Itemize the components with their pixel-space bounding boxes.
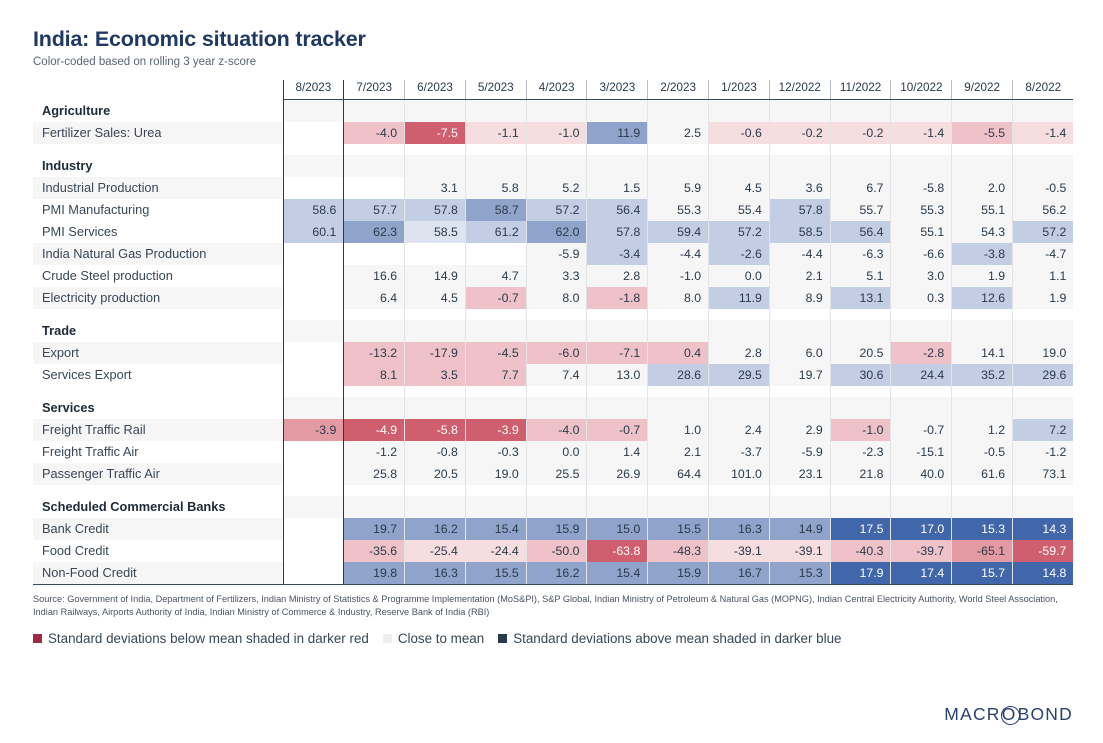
row-label: Freight Traffic Air xyxy=(33,441,283,463)
cell xyxy=(830,397,891,419)
cell xyxy=(587,309,648,320)
cell xyxy=(283,309,344,320)
cell: 7.4 xyxy=(526,364,587,386)
cell: 3.1 xyxy=(405,177,466,199)
cell: -0.5 xyxy=(952,441,1013,463)
table-row: Fertilizer Sales: Urea-4.0-7.5-1.1-1.011… xyxy=(33,122,1073,144)
cell xyxy=(283,485,344,496)
cell: 15.9 xyxy=(648,562,709,585)
cell xyxy=(952,386,1013,397)
column-header-8-2023: 8/2023 xyxy=(283,80,344,100)
cell: 28.6 xyxy=(648,364,709,386)
cell: -3.8 xyxy=(952,243,1013,265)
cell: 57.7 xyxy=(344,199,405,221)
cell xyxy=(405,144,466,155)
cell xyxy=(283,342,344,364)
cell: 60.1 xyxy=(283,221,344,243)
cell xyxy=(405,320,466,342)
table-row: Non-Food Credit19.816.315.516.215.415.91… xyxy=(33,562,1073,585)
cell xyxy=(283,518,344,540)
cell: 0.4 xyxy=(648,342,709,364)
cell: 24.4 xyxy=(891,364,952,386)
cell xyxy=(830,309,891,320)
logo-text-pre: MACR xyxy=(944,704,1000,725)
cell: -65.1 xyxy=(952,540,1013,562)
cell xyxy=(1013,496,1074,518)
cell: 2.1 xyxy=(769,265,830,287)
cell: 30.6 xyxy=(830,364,891,386)
cell: -1.0 xyxy=(648,265,709,287)
column-header-8-2022: 8/2022 xyxy=(1013,80,1074,100)
cell: 16.7 xyxy=(709,562,770,585)
cell: 1.2 xyxy=(952,419,1013,441)
cell: 59.4 xyxy=(648,221,709,243)
column-header-6-2023: 6/2023 xyxy=(405,80,466,100)
cell xyxy=(465,309,526,320)
cell xyxy=(465,397,526,419)
row-label: PMI Services xyxy=(33,221,283,243)
cell xyxy=(891,320,952,342)
cell: 12.6 xyxy=(952,287,1013,309)
macrobond-logo: MACROBOND xyxy=(944,704,1073,725)
cell xyxy=(648,320,709,342)
cell xyxy=(709,386,770,397)
cell: -0.7 xyxy=(587,419,648,441)
cell: -0.7 xyxy=(465,287,526,309)
row-label: Services Export xyxy=(33,364,283,386)
cell xyxy=(830,155,891,177)
cell xyxy=(891,99,952,122)
cell xyxy=(709,485,770,496)
cell: -5.9 xyxy=(526,243,587,265)
cell xyxy=(465,144,526,155)
cell: 6.4 xyxy=(344,287,405,309)
cell: -0.7 xyxy=(891,419,952,441)
cell: 3.6 xyxy=(769,177,830,199)
cell xyxy=(587,99,648,122)
cell: 13.0 xyxy=(587,364,648,386)
table-row: PMI Manufacturing58.657.757.858.757.256.… xyxy=(33,199,1073,221)
cell: -3.4 xyxy=(587,243,648,265)
section-header-row: Industry xyxy=(33,155,1073,177)
cell: -25.4 xyxy=(405,540,466,562)
row-label: Electricity production xyxy=(33,287,283,309)
cell xyxy=(283,397,344,419)
cell: 57.2 xyxy=(526,199,587,221)
cell: -2.8 xyxy=(891,342,952,364)
cell xyxy=(891,309,952,320)
cell xyxy=(709,155,770,177)
cell: 17.9 xyxy=(830,562,891,585)
cell: 15.4 xyxy=(465,518,526,540)
table-header: 8/20237/20236/20235/20234/20233/20232/20… xyxy=(33,80,1073,100)
cell: 16.3 xyxy=(709,518,770,540)
section-label: Trade xyxy=(33,320,283,342)
legend-label: Standard deviations above mean shaded in… xyxy=(513,631,841,646)
cell: -0.5 xyxy=(1013,177,1074,199)
cell: 55.1 xyxy=(891,221,952,243)
cell: 6.7 xyxy=(830,177,891,199)
cell: -6.3 xyxy=(830,243,891,265)
cell xyxy=(283,155,344,177)
cell: -5.8 xyxy=(405,419,466,441)
cell: 16.6 xyxy=(344,265,405,287)
cell: 1.0 xyxy=(648,419,709,441)
cell: -17.9 xyxy=(405,342,466,364)
cell xyxy=(526,320,587,342)
cell: 17.5 xyxy=(830,518,891,540)
cell: -48.3 xyxy=(648,540,709,562)
spacer-row xyxy=(33,144,1073,155)
cell xyxy=(891,155,952,177)
cell xyxy=(283,540,344,562)
cell: -4.4 xyxy=(648,243,709,265)
cell: 3.3 xyxy=(526,265,587,287)
row-label: Bank Credit xyxy=(33,518,283,540)
legend-item: Close to mean xyxy=(383,631,484,646)
cell: -4.9 xyxy=(344,419,405,441)
cell: -1.4 xyxy=(891,122,952,144)
cell xyxy=(709,309,770,320)
cell: 19.0 xyxy=(465,463,526,485)
table-row: Freight Traffic Air-1.2-0.8-0.30.01.42.1… xyxy=(33,441,1073,463)
cell: -1.0 xyxy=(526,122,587,144)
cell xyxy=(405,155,466,177)
cell: -39.1 xyxy=(769,540,830,562)
cell xyxy=(283,243,344,265)
table-row: Services Export8.13.57.77.413.028.629.51… xyxy=(33,364,1073,386)
cell: 2.4 xyxy=(709,419,770,441)
cell: -6.0 xyxy=(526,342,587,364)
cell xyxy=(587,386,648,397)
cell: 6.0 xyxy=(769,342,830,364)
cell xyxy=(769,144,830,155)
page-subtitle: Color-coded based on rolling 3 year z-sc… xyxy=(33,55,1073,70)
cell xyxy=(344,320,405,342)
row-label: Industrial Production xyxy=(33,177,283,199)
table-row: India Natural Gas Production-5.9-3.4-4.4… xyxy=(33,243,1073,265)
cell xyxy=(769,485,830,496)
cell: 1.5 xyxy=(587,177,648,199)
row-label xyxy=(33,144,283,155)
cell: -6.6 xyxy=(891,243,952,265)
cell: 14.8 xyxy=(1013,562,1074,585)
cell: 16.3 xyxy=(405,562,466,585)
cell xyxy=(587,496,648,518)
cell: 19.7 xyxy=(769,364,830,386)
legend-item: Standard deviations above mean shaded in… xyxy=(498,631,841,646)
cell: 101.0 xyxy=(709,463,770,485)
row-label: Export xyxy=(33,342,283,364)
column-header-label xyxy=(33,80,283,100)
cell xyxy=(526,309,587,320)
cell xyxy=(1013,155,1074,177)
row-label: PMI Manufacturing xyxy=(33,199,283,221)
cell xyxy=(405,99,466,122)
section-header-row: Agriculture xyxy=(33,99,1073,122)
cell xyxy=(283,320,344,342)
cell: 20.5 xyxy=(405,463,466,485)
cell: -39.7 xyxy=(891,540,952,562)
row-label: India Natural Gas Production xyxy=(33,243,283,265)
cell xyxy=(952,320,1013,342)
cell: -15.1 xyxy=(891,441,952,463)
cell: 17.0 xyxy=(891,518,952,540)
cell xyxy=(1013,99,1074,122)
cell xyxy=(587,485,648,496)
cell xyxy=(283,364,344,386)
cell xyxy=(648,309,709,320)
cell xyxy=(952,144,1013,155)
cell: 2.9 xyxy=(769,419,830,441)
cell: 14.1 xyxy=(952,342,1013,364)
cell xyxy=(283,99,344,122)
cell: 54.3 xyxy=(952,221,1013,243)
cell: 8.0 xyxy=(526,287,587,309)
legend-swatch-icon xyxy=(33,634,42,643)
cell xyxy=(709,496,770,518)
cell: 17.4 xyxy=(891,562,952,585)
section-label: Agriculture xyxy=(33,99,283,122)
cell: 19.8 xyxy=(344,562,405,585)
cell: 19.7 xyxy=(344,518,405,540)
cell: 15.4 xyxy=(587,562,648,585)
table-body: AgricultureFertilizer Sales: Urea-4.0-7.… xyxy=(33,99,1073,584)
cell xyxy=(769,496,830,518)
cell: -5.5 xyxy=(952,122,1013,144)
cell xyxy=(344,397,405,419)
section-label: Scheduled Commercial Banks xyxy=(33,496,283,518)
cell: 3.0 xyxy=(891,265,952,287)
source-note: Source: Government of India, Department … xyxy=(33,593,1078,619)
cell: 16.2 xyxy=(405,518,466,540)
legend-label: Close to mean xyxy=(398,631,484,646)
cell: -0.8 xyxy=(405,441,466,463)
cell: 25.5 xyxy=(526,463,587,485)
cell xyxy=(891,397,952,419)
row-label: Crude Steel production xyxy=(33,265,283,287)
cell: -50.0 xyxy=(526,540,587,562)
cell xyxy=(587,155,648,177)
cell: 56.4 xyxy=(587,199,648,221)
cell xyxy=(648,485,709,496)
cell: 58.7 xyxy=(465,199,526,221)
cell xyxy=(648,386,709,397)
table-row: Industrial Production3.15.85.21.55.94.53… xyxy=(33,177,1073,199)
cell: 25.8 xyxy=(344,463,405,485)
cell: 4.7 xyxy=(465,265,526,287)
cell: 15.3 xyxy=(952,518,1013,540)
cell: -7.5 xyxy=(405,122,466,144)
cell xyxy=(830,496,891,518)
cell xyxy=(891,386,952,397)
cell: 55.3 xyxy=(891,199,952,221)
cell: -2.6 xyxy=(709,243,770,265)
cell xyxy=(1013,320,1074,342)
cell: 55.3 xyxy=(648,199,709,221)
cell xyxy=(830,144,891,155)
cell xyxy=(830,99,891,122)
cell: 14.9 xyxy=(405,265,466,287)
cell xyxy=(891,144,952,155)
cell: 40.0 xyxy=(891,463,952,485)
cell: 62.3 xyxy=(344,221,405,243)
column-header-12-2022: 12/2022 xyxy=(769,80,830,100)
cell: 14.9 xyxy=(769,518,830,540)
cell xyxy=(344,309,405,320)
column-header-7-2023: 7/2023 xyxy=(344,80,405,100)
cell: -5.8 xyxy=(891,177,952,199)
cell: -7.1 xyxy=(587,342,648,364)
section-header-row: Services xyxy=(33,397,1073,419)
cell xyxy=(952,155,1013,177)
row-label xyxy=(33,309,283,320)
cell: 8.9 xyxy=(769,287,830,309)
table-row: Food Credit-35.6-25.4-24.4-50.0-63.8-48.… xyxy=(33,540,1073,562)
cell: -1.2 xyxy=(344,441,405,463)
cell: 2.8 xyxy=(709,342,770,364)
cell xyxy=(344,485,405,496)
cell: 57.2 xyxy=(1013,221,1074,243)
cell xyxy=(891,496,952,518)
cell xyxy=(1013,485,1074,496)
cell: 15.3 xyxy=(769,562,830,585)
spacer-row xyxy=(33,386,1073,397)
legend-swatch-icon xyxy=(498,634,507,643)
cell: 5.9 xyxy=(648,177,709,199)
cell xyxy=(648,496,709,518)
row-label xyxy=(33,386,283,397)
cell: 0.0 xyxy=(526,441,587,463)
cell: 57.8 xyxy=(405,199,466,221)
cell xyxy=(526,496,587,518)
table-row: Bank Credit19.716.215.415.915.015.516.31… xyxy=(33,518,1073,540)
cell xyxy=(283,122,344,144)
row-label: Food Credit xyxy=(33,540,283,562)
cell: 14.3 xyxy=(1013,518,1074,540)
cell xyxy=(952,397,1013,419)
cell: 1.9 xyxy=(1013,287,1074,309)
cell: 29.5 xyxy=(709,364,770,386)
column-header-10-2022: 10/2022 xyxy=(891,80,952,100)
logo-circle-o-icon: O xyxy=(1001,704,1018,725)
cell: -3.7 xyxy=(709,441,770,463)
cell: 1.1 xyxy=(1013,265,1074,287)
cell: 58.5 xyxy=(405,221,466,243)
cell xyxy=(769,320,830,342)
table-row: Electricity production6.44.5-0.78.0-1.88… xyxy=(33,287,1073,309)
table-row: Passenger Traffic Air25.820.519.025.526.… xyxy=(33,463,1073,485)
column-header-5-2023: 5/2023 xyxy=(465,80,526,100)
cell: 55.7 xyxy=(830,199,891,221)
cell xyxy=(891,485,952,496)
cell xyxy=(465,243,526,265)
section-label: Industry xyxy=(33,155,283,177)
row-label: Non-Food Credit xyxy=(33,562,283,585)
cell: 19.0 xyxy=(1013,342,1074,364)
cell xyxy=(344,243,405,265)
cell xyxy=(465,496,526,518)
cell: 7.7 xyxy=(465,364,526,386)
cell xyxy=(648,397,709,419)
spacer-row xyxy=(33,309,1073,320)
cell: 2.1 xyxy=(648,441,709,463)
cell xyxy=(709,99,770,122)
cell: 11.9 xyxy=(709,287,770,309)
cell: 5.8 xyxy=(465,177,526,199)
cell xyxy=(1013,144,1074,155)
cell xyxy=(526,99,587,122)
cell xyxy=(952,496,1013,518)
cell: -4.4 xyxy=(769,243,830,265)
cell: 5.2 xyxy=(526,177,587,199)
cell xyxy=(283,496,344,518)
cell: 57.8 xyxy=(769,199,830,221)
cell xyxy=(830,485,891,496)
legend: Standard deviations below mean shaded in… xyxy=(33,631,1073,646)
cell: 8.0 xyxy=(648,287,709,309)
cell xyxy=(405,397,466,419)
cell: 0.3 xyxy=(891,287,952,309)
cell xyxy=(465,485,526,496)
cell xyxy=(526,485,587,496)
cell xyxy=(587,320,648,342)
cell: -1.2 xyxy=(1013,441,1074,463)
cell xyxy=(769,99,830,122)
cell: 0.0 xyxy=(709,265,770,287)
cell: 16.2 xyxy=(526,562,587,585)
cell xyxy=(465,386,526,397)
cell xyxy=(709,144,770,155)
cell xyxy=(769,155,830,177)
cell xyxy=(405,386,466,397)
cell: 2.0 xyxy=(952,177,1013,199)
section-label: Services xyxy=(33,397,283,419)
cell: -3.9 xyxy=(465,419,526,441)
cell: 21.8 xyxy=(830,463,891,485)
cell: -0.2 xyxy=(830,122,891,144)
table-row: Export-13.2-17.9-4.5-6.0-7.10.42.86.020.… xyxy=(33,342,1073,364)
table-row: PMI Services60.162.358.561.262.057.859.4… xyxy=(33,221,1073,243)
cell: -63.8 xyxy=(587,540,648,562)
cell: 4.5 xyxy=(709,177,770,199)
tracker-page: India: Economic situation tracker Color-… xyxy=(0,0,1103,743)
column-header-2-2023: 2/2023 xyxy=(648,80,709,100)
cell: 2.8 xyxy=(587,265,648,287)
cell xyxy=(283,386,344,397)
cell: -4.0 xyxy=(526,419,587,441)
cell xyxy=(405,496,466,518)
cell: -2.3 xyxy=(830,441,891,463)
cell xyxy=(1013,309,1074,320)
cell xyxy=(344,386,405,397)
cell: 2.5 xyxy=(648,122,709,144)
cell: 58.6 xyxy=(283,199,344,221)
cell: 61.6 xyxy=(952,463,1013,485)
cell xyxy=(648,99,709,122)
cell xyxy=(344,144,405,155)
cell: 3.5 xyxy=(405,364,466,386)
section-header-row: Trade xyxy=(33,320,1073,342)
cell: -59.7 xyxy=(1013,540,1074,562)
row-label xyxy=(33,485,283,496)
legend-item: Standard deviations below mean shaded in… xyxy=(33,631,369,646)
cell xyxy=(769,397,830,419)
cell: 15.0 xyxy=(587,518,648,540)
cell xyxy=(830,320,891,342)
cell: -3.9 xyxy=(283,419,344,441)
cell: 29.6 xyxy=(1013,364,1074,386)
